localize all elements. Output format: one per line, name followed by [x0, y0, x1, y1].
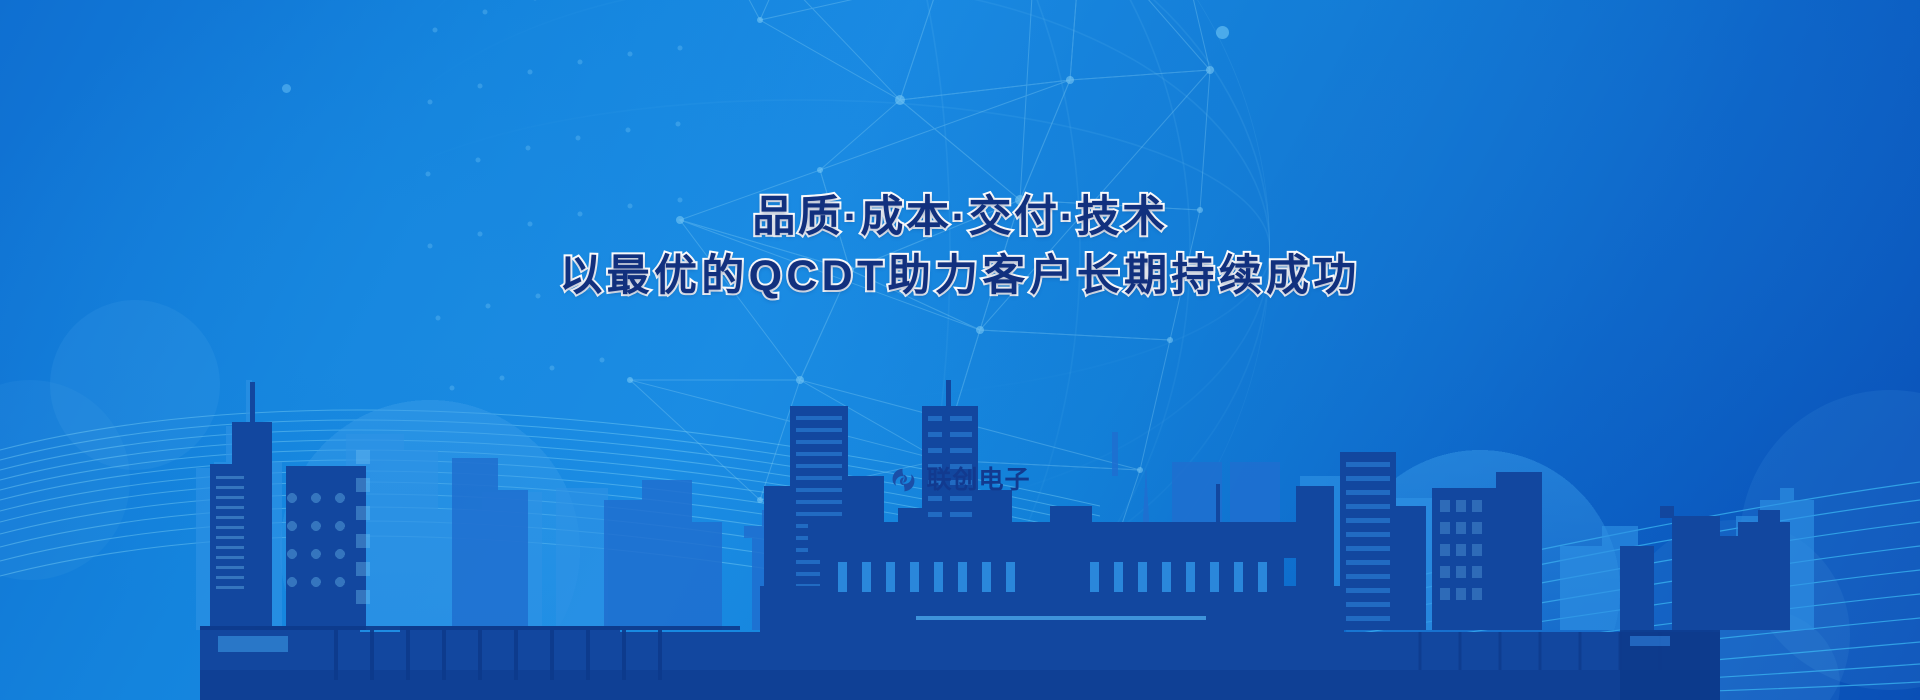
company-logo: 联创电子 [889, 466, 1030, 494]
city-skyline-icon [0, 340, 1920, 700]
headline-block: 品质·成本·交付·技术 以最优的QCDT助力客户长期持续成功 [0, 196, 1920, 298]
logo-wordmark: 联创电子 [926, 468, 1030, 493]
headline-line-1: 品质·成本·交付·技术 [0, 196, 1920, 239]
swirl-s-logo-icon [889, 466, 917, 494]
decor-dot-upper-left [282, 84, 291, 93]
headline-line-2: 以最优的QCDT助力客户长期持续成功 [0, 255, 1920, 298]
promotional-banner: 品质·成本·交付·技术 以最优的QCDT助力客户长期持续成功 联创电子 [0, 0, 1920, 700]
